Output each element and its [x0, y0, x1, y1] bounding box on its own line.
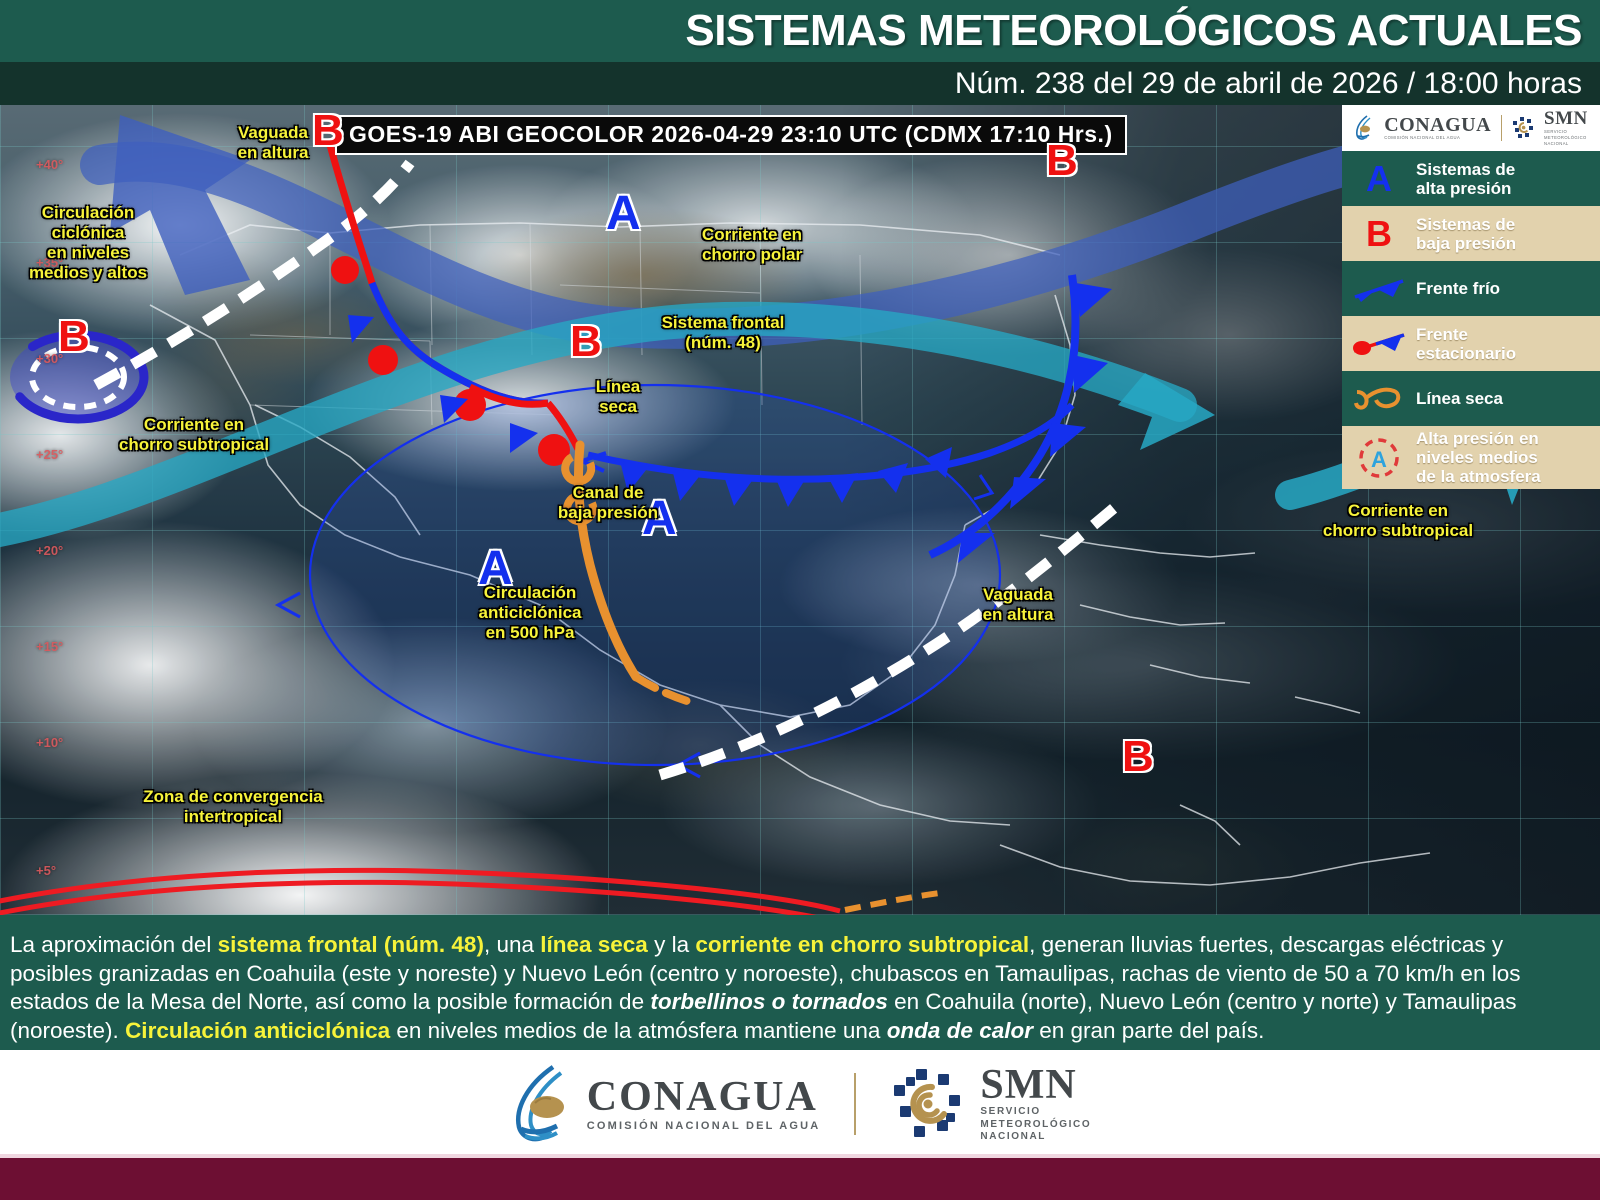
footer-conagua-logo: CONAGUA COMISIÓN NACIONAL DEL AGUA — [509, 1063, 821, 1145]
legend-label-stationary-front: Frente estacionario — [1416, 325, 1522, 363]
legend-symbol-A: A — [1366, 161, 1392, 197]
annotation-linea-seca: Línea seca — [580, 377, 656, 417]
conagua-wordmark: CONAGUA — [1384, 115, 1491, 135]
annotation-circulacion-ciclonica: Circulación ciclónica en niveles medios … — [8, 203, 168, 283]
summary-italic-onda-calor: onda de calor — [887, 1018, 1033, 1043]
footer-smn-logo: SMN SERVICIO METEOROLÓGICO NACIONAL — [890, 1064, 1091, 1144]
dry-line-tail — [636, 677, 690, 702]
cold-front-barb — [348, 315, 374, 343]
mid-level-high-icon: A — [1342, 434, 1416, 482]
legend-label-mid-level-high: Alta presión en niveles medios de la atm… — [1416, 429, 1547, 486]
legend-item-mid-level-high[interactable]: A Alta presión en niveles medios de la a… — [1342, 426, 1600, 489]
legend-label-cold-front: Frente frío — [1416, 279, 1506, 298]
legend-label-high-pressure: Sistemas de alta presión — [1416, 160, 1521, 198]
page-title: SISTEMAS METEOROLÓGICOS ACTUALES — [685, 4, 1582, 58]
annotation-corriente-chorro-polar: Corriente en chorro polar — [672, 225, 832, 265]
footer-logos: CONAGUA COMISIÓN NACIONAL DEL AGUA — [0, 1050, 1600, 1158]
satellite-map[interactable]: GOES-19 ABI GEOCOLOR 2026-04-29 23:10 UT… — [0, 105, 1600, 915]
lat-label: +15° — [36, 639, 63, 654]
legend-item-low-pressure[interactable]: B Sistemas de baja presión — [1342, 206, 1600, 261]
conagua-wave-icon — [509, 1063, 575, 1145]
summary-highlight-circulacion: Circulación anticiclónica — [125, 1018, 390, 1043]
low-pressure-marker: B — [1046, 139, 1078, 183]
cold-front-barb — [510, 423, 538, 453]
summary-seg: y la — [648, 932, 696, 957]
bulletin-number-date: Núm. 238 del 29 de abril de 2026 / 18:00… — [955, 64, 1582, 104]
summary-italic-torbellinos: torbellinos o tornados — [650, 989, 888, 1014]
smn-logo-icon — [1512, 116, 1534, 140]
low-pressure-icon: B — [1342, 216, 1416, 252]
legend-symbol-B: B — [1366, 216, 1392, 252]
annotation-corriente-chorro-subtropical-w: Corriente en chorro subtropical — [104, 415, 284, 455]
summary-paragraph: La aproximación del sistema frontal (núm… — [0, 915, 1600, 1045]
cold-front-east-line — [930, 275, 1075, 555]
itcz-tail-dashed — [845, 893, 940, 910]
annotation-canal-baja-presion: Canal de baja presión — [528, 483, 688, 523]
summary-highlight-sistema-frontal: sistema frontal (núm. 48) — [218, 932, 484, 957]
legend-item-stationary-front[interactable]: Frente estacionario — [1342, 316, 1600, 371]
lat-label: +40° — [36, 157, 63, 172]
smn-wordmark: SMN — [1544, 109, 1588, 129]
low-pressure-marker: B — [1122, 735, 1154, 779]
annotation-corriente-chorro-subtropical-e: Corriente en chorro subtropical — [1298, 501, 1498, 541]
annotation-zona-convergencia-intertropical: Zona de convergencia intertropical — [118, 787, 348, 827]
svg-text:A: A — [1371, 447, 1387, 472]
weather-bulletin-page: SISTEMAS METEOROLÓGICOS ACTUALES Núm. 23… — [0, 0, 1600, 1200]
annotation-circulacion-anticiclonica: Circulación anticiclónica en 500 hPa — [440, 583, 620, 643]
logo-divider — [1501, 115, 1502, 141]
footer-conagua-sub: COMISIÓN NACIONAL DEL AGUA — [587, 1119, 821, 1133]
smn-subtitle: SERVICIO METEOROLÓGICO NACIONAL — [1544, 129, 1588, 147]
annotation-vaguada-altura-se: Vaguada en altura — [948, 585, 1088, 625]
summary-seg: en gran parte del país. — [1033, 1018, 1264, 1043]
summary-text-band: La aproximación del sistema frontal (núm… — [0, 915, 1600, 1050]
lat-label: +5° — [36, 863, 56, 878]
legend-label-low-pressure: Sistemas de baja presión — [1416, 215, 1522, 253]
footer-smn-sub: SERVICIO METEOROLÓGICO NACIONAL — [980, 1106, 1091, 1144]
summary-highlight-linea-seca: línea seca — [540, 932, 648, 957]
summary-seg: , una — [484, 932, 540, 957]
smn-spiral-icon — [890, 1065, 968, 1143]
summary-highlight-corriente-chorro: corriente en chorro subtropical — [695, 932, 1029, 957]
legend-logo-bar: CONAGUA COMISIÓN NACIONAL DEL AGUA SMN — [1342, 105, 1600, 151]
itcz-line — [0, 882, 840, 915]
legend-item-high-pressure[interactable]: A Sistemas de alta presión — [1342, 151, 1600, 206]
annotation-vaguada-altura-nw: Vaguada en altura — [198, 123, 348, 163]
low-pressure-marker: B — [58, 315, 90, 359]
stationary-front-icon — [1342, 329, 1416, 359]
summary-seg: La aproximación del — [10, 932, 218, 957]
footer-divider — [854, 1073, 856, 1135]
footer-conagua-name: CONAGUA — [587, 1075, 821, 1119]
lat-label: +25° — [36, 447, 63, 462]
legend-item-dry-line[interactable]: Línea seca — [1342, 371, 1600, 426]
dry-line-icon — [1342, 384, 1416, 414]
lat-label: +20° — [36, 543, 63, 558]
high-pressure-marker: A — [606, 190, 641, 238]
annotation-sistema-frontal: Sistema frontal (núm. 48) — [638, 313, 808, 353]
legend-item-cold-front[interactable]: Frente frío — [1342, 261, 1600, 316]
high-pressure-icon: A — [1342, 161, 1416, 197]
lat-label: +10° — [36, 735, 63, 750]
cold-front-line — [588, 405, 1072, 479]
stationary-front-bump — [368, 345, 398, 375]
footer-bottom-bar — [0, 1158, 1600, 1200]
conagua-logo-icon — [1354, 115, 1374, 141]
satellite-timestamp: GOES-19 ABI GEOCOLOR 2026-04-29 23:10 UT… — [335, 115, 1127, 155]
legend-panel: CONAGUA COMISIÓN NACIONAL DEL AGUA SMN — [1342, 105, 1600, 489]
stationary-front-bump — [331, 256, 359, 284]
legend-label-dry-line: Línea seca — [1416, 389, 1509, 408]
low-pressure-marker: B — [570, 320, 602, 364]
footer-smn-name: SMN — [980, 1064, 1091, 1106]
summary-seg: en niveles medios de la atmósfera mantie… — [390, 1018, 887, 1043]
cold-front-icon — [1342, 275, 1416, 303]
